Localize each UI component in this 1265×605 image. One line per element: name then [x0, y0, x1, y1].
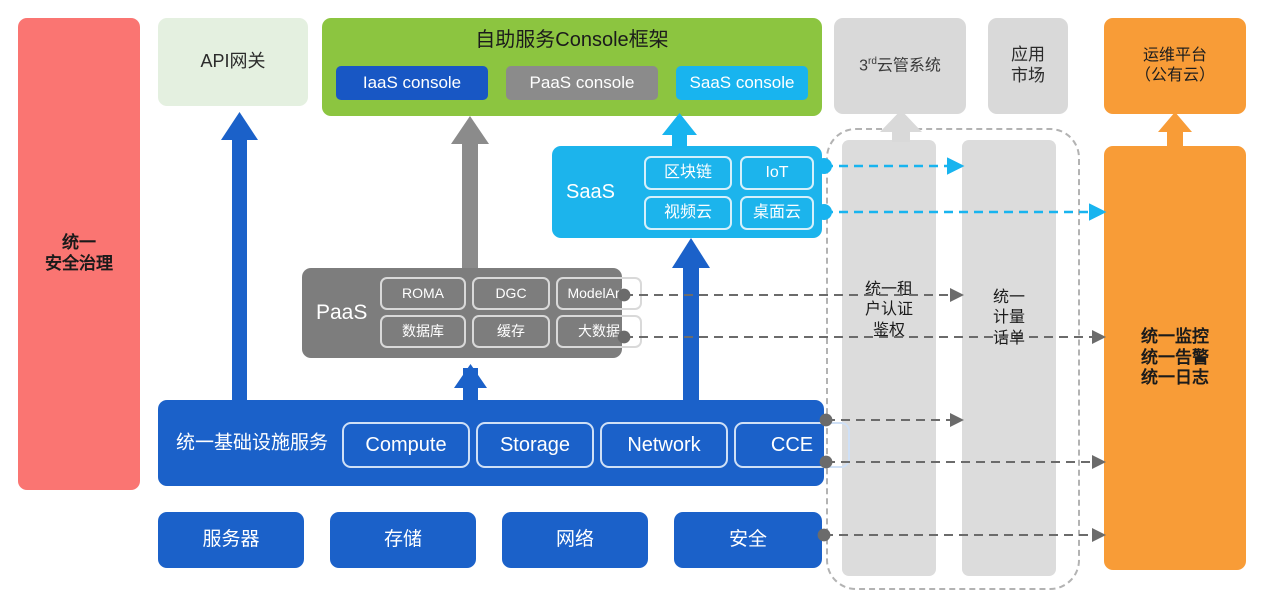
- app-market-line2: 市场: [1011, 66, 1045, 87]
- resource-box-server: 服务器: [158, 512, 304, 568]
- saas-layer-label: SaaS: [566, 180, 615, 204]
- ops-platform-box: 运维平台 （公有云）: [1104, 18, 1246, 114]
- metering-line3: 话单: [962, 329, 1056, 349]
- saas-chip-blockchain: 区块链: [644, 156, 732, 190]
- paas-chip-roma: ROMA: [380, 277, 466, 310]
- shared-service-metering-label: 统一 计量 话单: [962, 288, 1056, 349]
- infra-chip-network: Network: [600, 422, 728, 468]
- metering-line1: 统一: [962, 288, 1056, 308]
- paas-chip-bigdata: 大数据: [556, 315, 642, 348]
- paas-layer-box: PaaS ROMA DGC ModelArts 数据库 缓存 大数据: [302, 268, 622, 358]
- infra-chip-storage: Storage: [476, 422, 594, 468]
- app-market-line1: 应用: [1011, 45, 1045, 66]
- infrastructure-label: 统一基础设施服务: [176, 431, 328, 454]
- security-governance-line2: 安全治理: [45, 254, 113, 275]
- gray-up-arrow-to-console: [451, 116, 489, 268]
- infra-chip-cce: CCE: [734, 422, 850, 468]
- paas-chip-modelarts: ModelArts: [556, 277, 642, 310]
- console-framework-title: 自助服务Console框架: [322, 28, 822, 52]
- unified-monitoring-line1: 统一监控: [1141, 327, 1209, 348]
- resource-box-security: 安全: [674, 512, 822, 568]
- infrastructure-layer-box: 统一基础设施服务 Compute Storage Network CCE: [158, 400, 824, 486]
- saas-chip-video-cloud: 视频云: [644, 196, 732, 230]
- metering-line2: 计量: [962, 308, 1056, 328]
- app-market-box: 应用 市场: [988, 18, 1068, 114]
- auth-line2: 户认证: [842, 300, 936, 320]
- ops-platform-line1: 运维平台: [1135, 46, 1215, 66]
- resource-box-network: 网络: [502, 512, 648, 568]
- shared-service-column-auth: [842, 140, 936, 576]
- shared-service-auth-label: 统一租 户认证 鉴权: [842, 280, 936, 341]
- security-governance-line1: 统一: [45, 233, 113, 254]
- api-gateway-box: API网关: [158, 18, 308, 106]
- auth-line1: 统一租: [842, 280, 936, 300]
- third-party-suffix: 云管系统: [877, 57, 941, 74]
- paas-chip-database: 数据库: [380, 315, 466, 348]
- paas-chip-cache: 缓存: [472, 315, 550, 348]
- security-governance-panel: 统一 安全治理: [18, 18, 140, 490]
- paas-layer-label: PaaS: [316, 300, 367, 326]
- unified-monitoring-line2: 统一告警: [1141, 348, 1209, 369]
- saas-chip-desktop-cloud: 桌面云: [740, 196, 814, 230]
- unified-monitoring-column: 统一监控 统一告警 统一日志: [1104, 146, 1246, 570]
- blue-up-arrow-to-saas: [672, 238, 710, 400]
- cyan-up-arrow-to-console: [662, 113, 697, 148]
- infra-chip-compute: Compute: [342, 422, 470, 468]
- saas-chip-iot: IoT: [740, 156, 814, 190]
- third-party-prefix: 3: [859, 57, 868, 74]
- resource-box-storage: 存储: [330, 512, 476, 568]
- third-party-cloud-mgmt-box: 3rd云管系统: [834, 18, 966, 114]
- paas-chip-dgc: DGC: [472, 277, 550, 310]
- third-party-superscript: rd: [868, 56, 877, 67]
- api-gateway-label: API网关: [200, 51, 265, 73]
- ops-platform-line2: （公有云）: [1135, 66, 1215, 86]
- iaas-console-chip: IaaS console: [336, 66, 488, 100]
- paas-console-chip: PaaS console: [506, 66, 658, 100]
- orange-up-arrow-to-ops-platform: [1158, 112, 1192, 148]
- architecture-diagram: 统一 安全治理 API网关 自助服务Console框架 IaaS console…: [0, 0, 1265, 605]
- unified-monitoring-line3: 统一日志: [1141, 368, 1209, 389]
- console-framework-box: 自助服务Console框架 IaaS console PaaS console …: [322, 18, 822, 116]
- saas-layer-box: SaaS 区块链 IoT 视频云 桌面云: [552, 146, 822, 238]
- shared-service-column-metering: [962, 140, 1056, 576]
- saas-console-chip: SaaS console: [676, 66, 808, 100]
- auth-line3: 鉴权: [842, 321, 936, 341]
- blue-up-arrow-to-api-gateway: [221, 112, 258, 400]
- blue-up-arrow-to-paas: [454, 364, 487, 402]
